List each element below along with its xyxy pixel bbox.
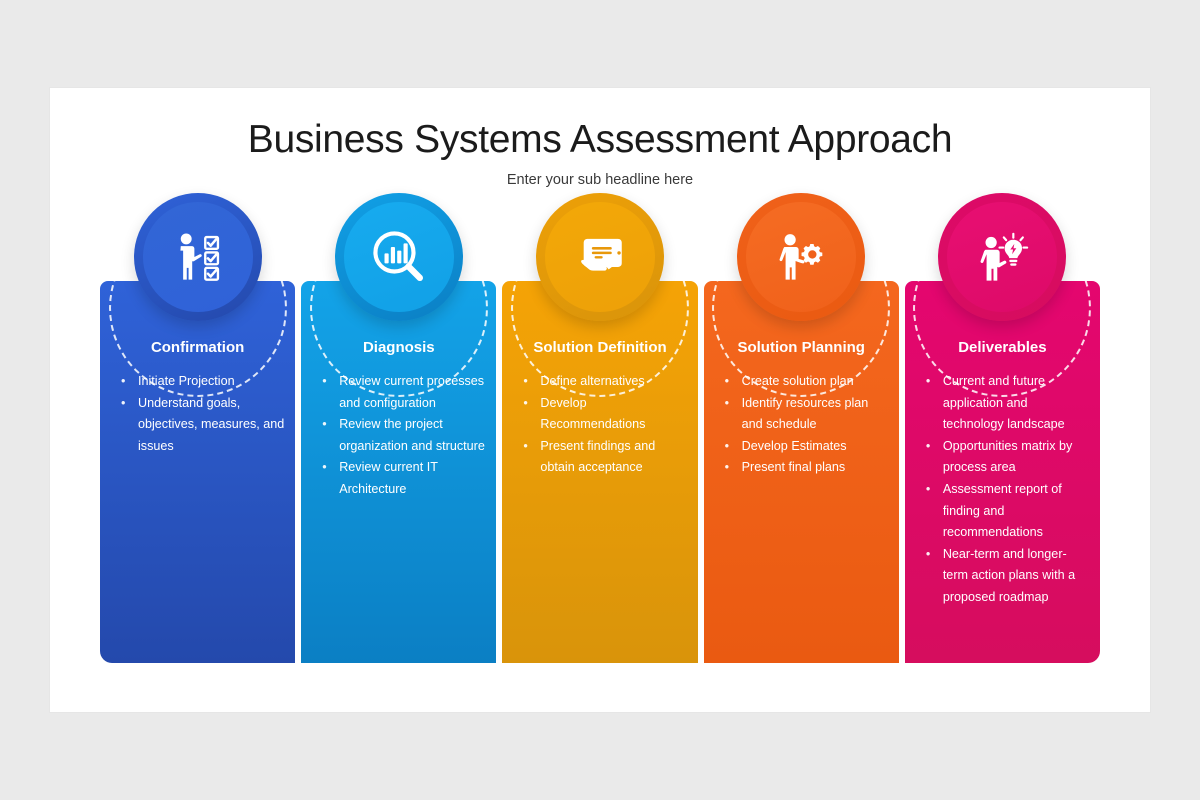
bullet-item: Present final plans <box>718 457 889 479</box>
column-heading: Diagnosis <box>301 339 496 356</box>
icon-badge[interactable] <box>938 193 1066 321</box>
bullet-item: Create solution plan <box>718 371 889 393</box>
icon-badge[interactable] <box>335 193 463 321</box>
icon-circle-inner <box>344 202 454 312</box>
person-gear-icon <box>746 202 856 312</box>
person-lightbulb-icon <box>947 202 1057 312</box>
icon-badge[interactable] <box>737 193 865 321</box>
column-bullet-list: Current and future application and techn… <box>919 371 1090 609</box>
process-column-diagnosis[interactable]: DiagnosisReview current processes and co… <box>301 281 496 663</box>
bullet-item: Assessment report of finding and recomme… <box>919 479 1090 544</box>
icon-circle-outer <box>536 193 664 321</box>
bullet-item: Present findings and obtain acceptance <box>516 436 687 479</box>
column-bullet-list: Initiate ProjectionUnderstand goals, obj… <box>114 371 285 457</box>
process-column-confirmation[interactable]: ConfirmationInitiate ProjectionUnderstan… <box>100 281 295 663</box>
page-title: Business Systems Assessment Approach <box>50 118 1150 162</box>
icon-circle-inner <box>143 202 253 312</box>
page-subtitle: Enter your sub headline here <box>50 172 1150 188</box>
process-columns: ConfirmationInitiate ProjectionUnderstan… <box>100 281 1100 663</box>
icon-circle-outer <box>938 193 1066 321</box>
icon-circle-outer <box>134 193 262 321</box>
column-heading: Confirmation <box>100 339 295 356</box>
process-column-solution-planning[interactable]: Solution PlanningCreate solution planIde… <box>704 281 899 663</box>
column-bullet-list: Create solution planIdentify resources p… <box>718 371 889 479</box>
bullet-item: Opportunities matrix by process area <box>919 436 1090 479</box>
process-column-solution-definition[interactable]: Solution DefinitionDefine alternativesDe… <box>502 281 697 663</box>
icon-circle-outer <box>737 193 865 321</box>
hand-tablet-document-icon <box>545 202 655 312</box>
column-heading: Solution Definition <box>502 339 697 356</box>
icon-badge[interactable] <box>536 193 664 321</box>
icon-circle-inner <box>947 202 1057 312</box>
presenter-checklist-icon <box>143 202 253 312</box>
bullet-item: Develop Estimates <box>718 436 889 458</box>
bullet-item: Near-term and longer-term action plans w… <box>919 544 1090 609</box>
bullet-item: Develop Recommendations <box>516 393 687 436</box>
bullet-item: Understand goals, objectives, measures, … <box>114 393 285 458</box>
column-heading: Deliverables <box>905 339 1100 356</box>
column-heading: Solution Planning <box>704 339 899 356</box>
bullet-item: Review current IT Architecture <box>315 457 486 500</box>
column-bullet-list: Define alternativesDevelop Recommendatio… <box>516 371 687 479</box>
bullet-item: Identify resources plan and schedule <box>718 393 889 436</box>
icon-badge[interactable] <box>134 193 262 321</box>
bullet-item: Define alternatives <box>516 371 687 393</box>
column-bullet-list: Review current processes and configurati… <box>315 371 486 501</box>
page-background: Business Systems Assessment Approach Ent… <box>0 0 1200 800</box>
icon-circle-outer <box>335 193 463 321</box>
icon-circle-inner <box>545 202 655 312</box>
bullet-item: Review current processes and configurati… <box>315 371 486 414</box>
bullet-item: Review the project organization and stru… <box>315 414 486 457</box>
bullet-item: Current and future application and techn… <box>919 371 1090 436</box>
icon-circle-inner <box>746 202 856 312</box>
magnifier-bar-chart-icon <box>344 202 454 312</box>
process-column-deliverables[interactable]: DeliverablesCurrent and future applicati… <box>905 281 1100 663</box>
bullet-item: Initiate Projection <box>114 371 285 393</box>
slide-canvas: Business Systems Assessment Approach Ent… <box>50 88 1150 712</box>
